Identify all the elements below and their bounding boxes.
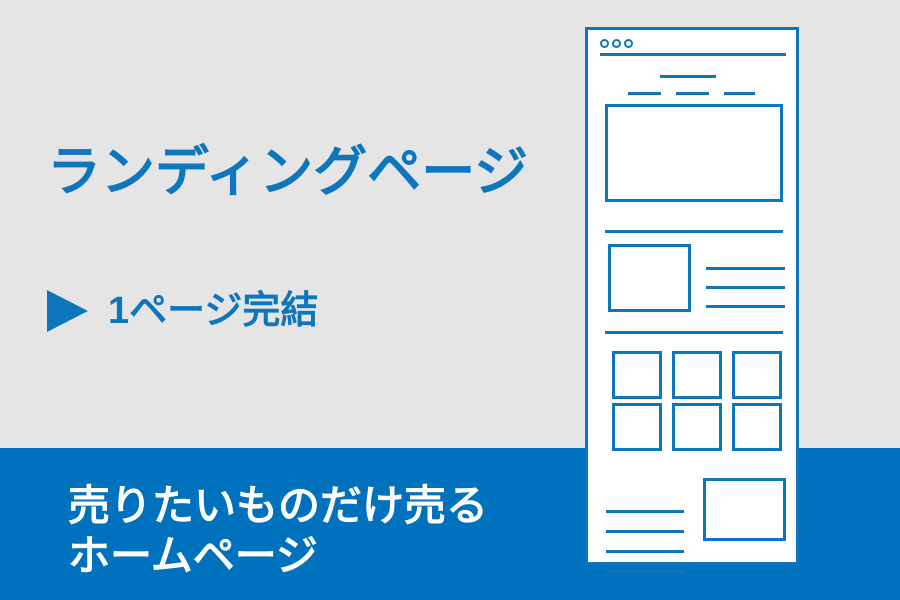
grid-cell-3: [732, 351, 782, 399]
window-dot-icon-1: [600, 39, 609, 48]
section-divider-2: [605, 331, 783, 334]
nav-item-placeholder-b: [676, 92, 709, 95]
footer-text-line-1: [606, 510, 684, 513]
grid-cell-1: [612, 351, 662, 399]
hero-image-placeholder: [605, 104, 783, 202]
nav-title-placeholder: [660, 75, 716, 78]
grid-cell-6: [732, 403, 782, 451]
footer-text-line-4: [606, 570, 684, 573]
window-dot-icon-3: [624, 39, 633, 48]
browser-chrome-rule: [600, 53, 786, 56]
subtitle-label: 1ページ完結: [108, 289, 318, 333]
landing-page-wireframe: [585, 27, 799, 565]
feature-text-line-2: [706, 286, 785, 289]
page-title: ランディングページ: [47, 141, 528, 203]
footer-text-line-3: [606, 550, 684, 553]
grid-cell-4: [612, 403, 662, 451]
section-divider-1: [605, 230, 783, 233]
slide-canvas: ランディングページ 1ページ完結 売りたいものだけ売る ホームページ: [0, 0, 900, 600]
feature-text-line-1: [706, 267, 785, 270]
footer-image-placeholder: [703, 478, 786, 541]
grid-cell-5: [672, 403, 722, 451]
grid-cell-2: [672, 351, 722, 399]
feature-text-line-3: [706, 305, 785, 308]
footer-text-line-2: [606, 530, 684, 533]
subtitle-row: 1ページ完結: [47, 287, 318, 335]
window-dot-icon-2: [612, 39, 621, 48]
band-tagline: 売りたいものだけ売る ホームページ: [68, 481, 488, 581]
feature-image-placeholder: [608, 244, 691, 312]
nav-item-placeholder-c: [724, 92, 755, 95]
nav-item-placeholder-a: [628, 92, 661, 95]
play-triangle-icon: [47, 290, 88, 332]
